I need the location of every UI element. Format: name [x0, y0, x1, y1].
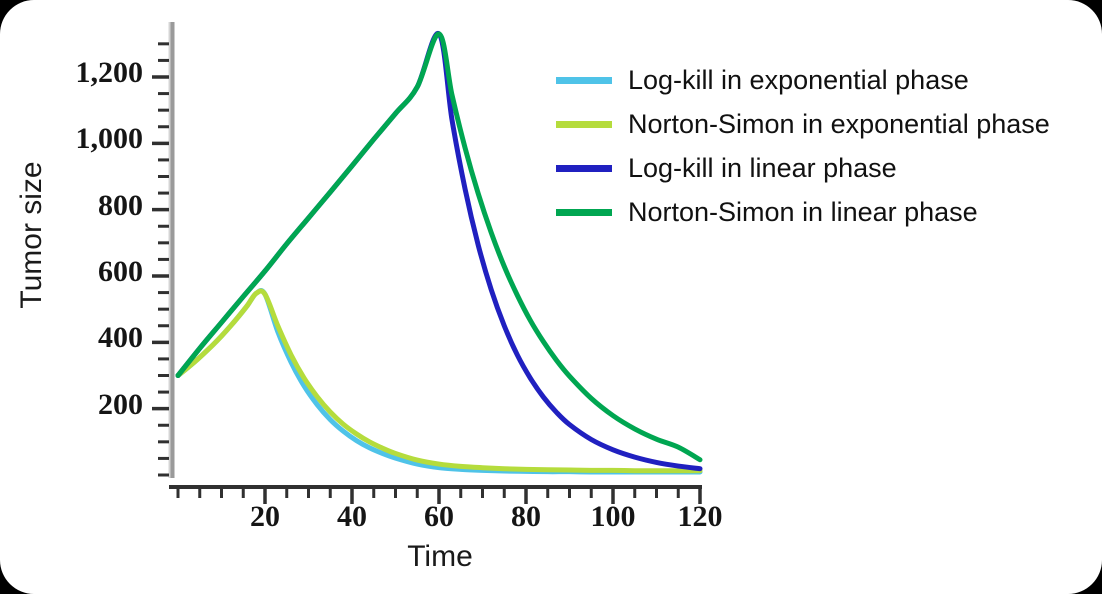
chart-legend: Log-kill in exponential phaseNorton-Simo… — [556, 58, 1096, 234]
legend-item[interactable]: Log-kill in exponential phase — [556, 58, 1096, 102]
y-tick-label: 1,200 — [33, 56, 143, 90]
legend-swatch-icon — [556, 165, 612, 172]
x-tick-label: 80 — [486, 500, 566, 534]
x-tick-label: 100 — [573, 500, 653, 534]
x-tick-label: 40 — [312, 500, 392, 534]
chart-card: Tumor size Time 2004006008001,0001,200 2… — [0, 0, 1102, 594]
y-tick-label: 800 — [33, 189, 143, 223]
y-tick-label: 400 — [33, 321, 143, 355]
y-tick-label: 1,000 — [33, 122, 143, 156]
legend-item-label: Norton-Simon in exponential phase — [628, 111, 1050, 138]
x-axis-title: Time — [330, 540, 550, 574]
legend-item-label: Log-kill in exponential phase — [628, 67, 969, 94]
y-tick-label: 200 — [33, 388, 143, 422]
x-tick-label: 120 — [660, 500, 740, 534]
legend-swatch-icon — [556, 121, 612, 128]
series-line — [178, 291, 700, 471]
legend-swatch-icon — [556, 77, 612, 84]
y-tick-label: 600 — [33, 255, 143, 289]
legend-item[interactable]: Norton-Simon in linear phase — [556, 190, 1096, 234]
series-line — [178, 291, 700, 472]
legend-item-label: Norton-Simon in linear phase — [628, 199, 978, 226]
x-tick-label: 60 — [399, 500, 479, 534]
x-tick-label: 20 — [225, 500, 305, 534]
y-axis-title: Tumor size — [15, 155, 49, 315]
legend-item[interactable]: Norton-Simon in exponential phase — [556, 102, 1096, 146]
legend-item-label: Log-kill in linear phase — [628, 155, 897, 182]
legend-item[interactable]: Log-kill in linear phase — [556, 146, 1096, 190]
legend-swatch-icon — [556, 209, 612, 216]
